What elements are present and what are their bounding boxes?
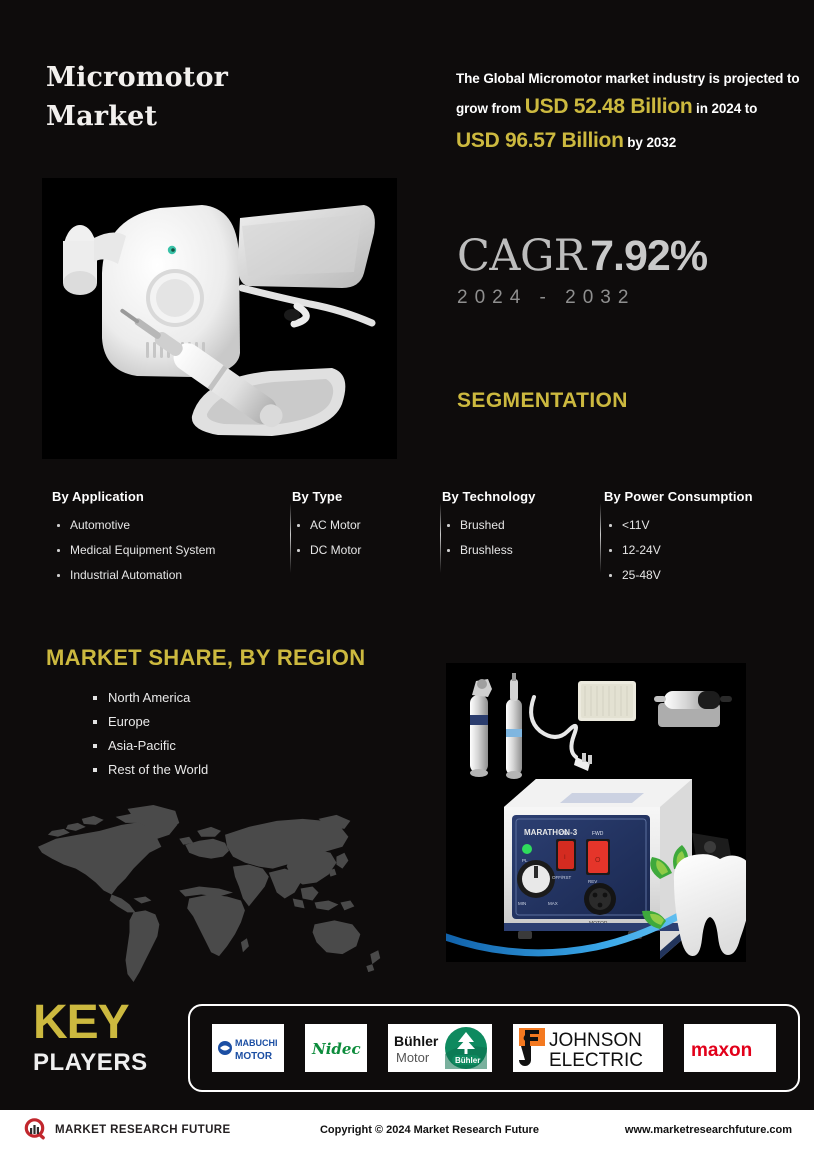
cagr-value: 7.92% (590, 232, 707, 280)
maxon-logo-mark: maxon (686, 1028, 774, 1068)
key-players-logo-box: MABUCHI MOTOR Nidec Bühler Motor (188, 1004, 800, 1092)
svg-text:ELECTRIC: ELECTRIC (549, 1050, 643, 1071)
svg-text:MIN: MIN (518, 901, 526, 906)
svg-text:MAX: MAX (548, 901, 558, 906)
key-players-heading-top: KEY (33, 998, 183, 1048)
svg-text:MABUCHI: MABUCHI (235, 1038, 278, 1048)
list-item: 12-24V (604, 538, 753, 563)
segment-title-type: By Type (292, 489, 361, 504)
list-item: North America (90, 686, 208, 710)
svg-text:MARATHON-3: MARATHON-3 (524, 828, 578, 837)
svg-text:REV: REV (588, 879, 597, 884)
market-share-region-list: North America Europe Asia-Pacific Rest o… (90, 686, 208, 782)
list-item: Asia-Pacific (90, 734, 208, 758)
list-item: Brushless (442, 538, 536, 563)
page-title-line2: Market (46, 97, 386, 136)
list-item: Automotive (52, 513, 215, 538)
segment-title-technology: By Technology (442, 489, 536, 504)
segment-title-application: By Application (52, 489, 215, 504)
svg-text:ON: ON (560, 831, 568, 837)
svg-text:Motor: Motor (396, 1050, 430, 1065)
segment-divider-2 (440, 503, 441, 573)
list-item: AC Motor (292, 513, 361, 538)
johnson-electric-logo: JOHNSON ELECTRIC (513, 1024, 663, 1072)
segment-by-type: By Type AC Motor DC Motor (292, 489, 361, 563)
segmentation-columns: By Application Automotive Medical Equipm… (44, 489, 784, 594)
svg-text:FWD: FWD (592, 831, 604, 837)
footer-url[interactable]: www.marketresearchfuture.com (625, 1124, 792, 1136)
footer-copyright: Copyright © 2024 Market Research Future (234, 1124, 625, 1136)
buhler-motor-logo: Bühler Motor Bühler (388, 1024, 492, 1072)
summary-mid-text: in 2024 to (696, 101, 757, 116)
key-players-heading: KEY PLAYERS (33, 998, 183, 1078)
svg-text:maxon: maxon (691, 1040, 752, 1061)
summary-post-text: by 2032 (627, 135, 676, 150)
market-value-2032: USD 96.57 Billion (456, 129, 624, 152)
buhler-motor-logo-mark: Bühler Motor Bühler (390, 1024, 490, 1072)
world-map-illustration (30, 795, 428, 990)
list-item: DC Motor (292, 538, 361, 563)
cagr-label: CAGR (457, 231, 586, 281)
world-map (30, 795, 428, 990)
nidec-logo: Nidec (305, 1024, 367, 1072)
nidec-logo-mark: Nidec (307, 1027, 365, 1069)
segmentation-heading: SEGMENTATION (457, 389, 628, 413)
svg-text:JOHNSON: JOHNSON (549, 1030, 642, 1051)
mabuchi-motor-logo-mark: MABUCHI MOTOR (215, 1027, 281, 1069)
hero-product-image (42, 178, 397, 459)
segment-divider-3 (600, 503, 601, 573)
segment-list-type: AC Motor DC Motor (292, 513, 361, 563)
cagr-period: 2024 - 2032 (457, 287, 707, 309)
secondary-product-image: MARATHON-3 PL MIN MAX ON I OFF/RST FWD (446, 663, 746, 962)
cagr-block: CAGR 7.92% 2024 - 2032 (457, 231, 707, 309)
svg-text:OFF/RST: OFF/RST (552, 875, 571, 880)
list-item: <11V (604, 513, 753, 538)
list-item: Brushed (442, 513, 536, 538)
page-title-line1: Micromotor (46, 58, 386, 97)
segment-by-technology: By Technology Brushed Brushless (442, 489, 536, 563)
segment-list-application: Automotive Medical Equipment System Indu… (52, 513, 215, 588)
list-item: Medical Equipment System (52, 538, 215, 563)
mabuchi-motor-logo: MABUCHI MOTOR (212, 1024, 284, 1072)
segment-list-power: <11V 12-24V 25-48V (604, 513, 753, 588)
maxon-logo: maxon (684, 1024, 776, 1072)
svg-text:Nidec: Nidec (311, 1040, 361, 1058)
segment-by-application: By Application Automotive Medical Equipm… (52, 489, 215, 588)
market-research-future-logo-icon (24, 1118, 48, 1142)
market-share-heading: MARKET SHARE, BY REGION (46, 645, 365, 671)
market-summary-text: The Global Micromotor market industry is… (456, 68, 801, 158)
list-item: 25-48V (604, 563, 753, 588)
page-title: Micromotor Market (46, 58, 386, 136)
list-item: Europe (90, 710, 208, 734)
list-item: Industrial Automation (52, 563, 215, 588)
segment-title-power: By Power Consumption (604, 489, 753, 504)
page-footer: MARKET RESEARCH FUTURE Copyright © 2024 … (0, 1110, 814, 1150)
key-players-heading-bottom: PLAYERS (33, 1048, 183, 1078)
segment-list-technology: Brushed Brushless (442, 513, 536, 563)
johnson-electric-logo-mark: JOHNSON ELECTRIC (515, 1024, 661, 1072)
dental-micromotor-photo-illustration: MARATHON-3 PL MIN MAX ON I OFF/RST FWD (446, 663, 746, 962)
svg-text:MOTOR: MOTOR (235, 1051, 273, 1062)
infographic-page: Micromotor Market The Global Micromotor … (0, 0, 814, 1150)
list-item: Rest of the World (90, 758, 208, 782)
segment-divider-1 (290, 503, 291, 573)
svg-text:Bühler: Bühler (455, 1056, 480, 1065)
footer-brand-text: MARKET RESEARCH FUTURE (55, 1124, 231, 1136)
market-value-2024: USD 52.48 Billion (525, 95, 693, 118)
segment-by-power-consumption: By Power Consumption <11V 12-24V 25-48V (604, 489, 753, 588)
micromotor-photo-illustration (42, 178, 397, 459)
svg-text:Bühler: Bühler (394, 1033, 439, 1049)
svg-text:O: O (595, 857, 601, 864)
